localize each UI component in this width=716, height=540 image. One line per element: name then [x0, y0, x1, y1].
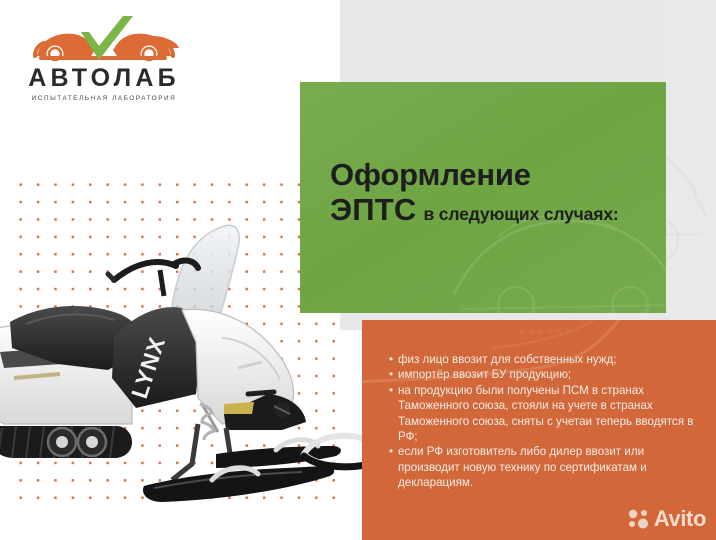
- bullet-text: физ лицо ввозит для собственных нужд;: [398, 352, 694, 367]
- headline-subtext: в следующих случаях:: [423, 204, 618, 224]
- headline-block: Оформление ЭПТСв следующих случаях:: [330, 159, 619, 227]
- bullet-text: импортёр ввозит БУ продукцию;: [398, 367, 694, 382]
- green-headline-panel: Оформление ЭПТСв следующих случаях:: [300, 82, 666, 313]
- list-item: • физ лицо ввозит для собственных нужд;: [389, 352, 694, 367]
- bullet-marker: •: [389, 367, 398, 382]
- headline-line-1: Оформление: [330, 159, 619, 192]
- car-check-logo-icon: [29, 16, 179, 64]
- bullet-text: если РФ изготовитель либо дилер ввозит и…: [398, 444, 694, 490]
- headline-eptc: ЭПТС: [330, 192, 416, 227]
- list-item: • если РФ изготовитель либо дилер ввозит…: [389, 444, 694, 490]
- bullet-marker: •: [389, 383, 398, 398]
- avito-wordmark: Avito: [654, 508, 706, 530]
- brand-tagline: ИСПЫТАТЕЛЬНАЯ ЛАБОРАТОРИЯ: [16, 95, 192, 102]
- list-item: • импортёр ввозит БУ продукцию;: [389, 367, 694, 382]
- avito-watermark: Avito: [628, 508, 706, 530]
- bullet-marker: •: [389, 444, 398, 459]
- list-item: • на продукцию были получены ПСМ в стран…: [389, 383, 694, 445]
- brand-name: АВТОЛАБ: [16, 66, 192, 91]
- avito-dots-icon: [628, 509, 650, 529]
- bullet-text: на продукцию были получены ПСМ в странах…: [398, 383, 694, 445]
- promo-image: АВТОЛАБ ИСПЫТАТЕЛЬНАЯ ЛАБОРАТОРИЯ: [0, 0, 716, 540]
- headline-line-2: ЭПТСв следующих случаях:: [330, 194, 619, 227]
- bullet-marker: •: [389, 352, 398, 367]
- brand-logo: АВТОЛАБ ИСПЫТАТЕЛЬНАЯ ЛАБОРАТОРИЯ: [16, 16, 192, 108]
- bullet-list: • физ лицо ввозит для собственных нужд; …: [389, 352, 694, 491]
